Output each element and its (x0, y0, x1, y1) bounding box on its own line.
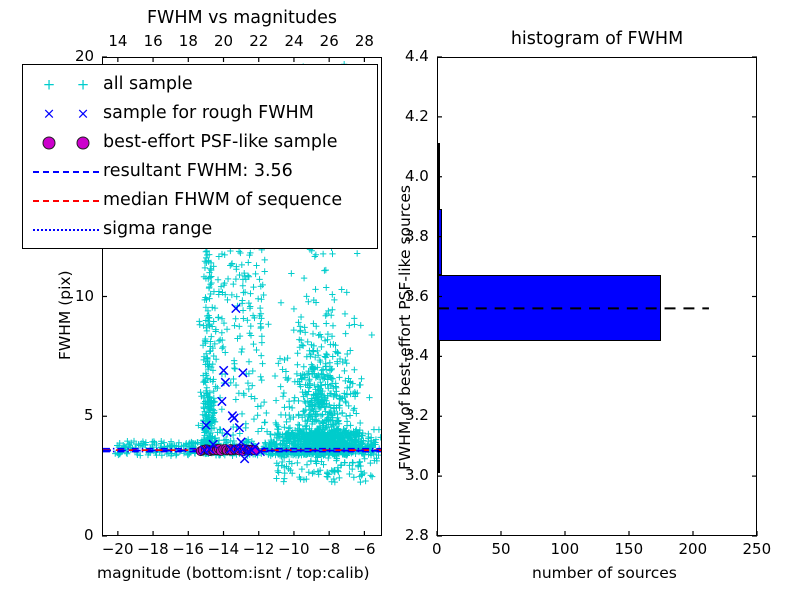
legend-item-label: sample for rough FWHM (103, 105, 314, 123)
histogram-bar (438, 209, 442, 275)
y-tick-label: 3.0 (405, 468, 429, 483)
fwhm-histogram-axes (437, 57, 757, 536)
legend-item[interactable]: resultant FWHM: 3.56 (29, 157, 293, 187)
x-bottom-tick-label: −14 (208, 542, 240, 557)
left-panel-title: FWHM vs magnitudes (102, 10, 382, 28)
legend-item-label: all sample (103, 76, 193, 94)
x-bottom-tick-label: −10 (278, 542, 310, 557)
right-panel-title: histogram of FWHM (437, 31, 757, 49)
plus-marker-icon: ++ (29, 70, 103, 100)
x-bottom-tick-label: −8 (318, 542, 340, 557)
x-top-tick-label: 24 (284, 34, 303, 49)
cross-marker-icon: ×× (29, 99, 103, 129)
x-bottom-tick-label: −6 (353, 542, 375, 557)
y-tick-label: 10 (75, 289, 94, 304)
legend-item[interactable]: best-effort PSF-like sample (29, 128, 338, 158)
legend-item-label: sigma range (103, 221, 212, 239)
line-sample (33, 200, 99, 202)
legend-item-label: best-effort PSF-like sample (103, 134, 338, 152)
x-tick-label: 100 (551, 542, 580, 557)
marker-glyph: × (43, 107, 56, 122)
left-xlabel: magnitude (bottom:isnt / top:calib) (97, 566, 370, 582)
x-top-tick-label: 20 (214, 34, 233, 49)
x-top-tick-label: 22 (249, 34, 268, 49)
figure-canvas: FWHM vs magnitudes −20−18−16−14−12−10−8−… (0, 0, 800, 600)
histogram-bar (438, 143, 440, 209)
x-top-tick-label: 28 (355, 34, 374, 49)
dashed-line-icon (29, 157, 103, 187)
y-tick-label: 20 (75, 49, 94, 64)
marker-glyph: + (43, 78, 56, 93)
marker-glyph (77, 137, 90, 150)
right-xlabel: number of sources (532, 566, 677, 582)
legend-item[interactable]: ++all sample (29, 70, 193, 100)
x-tick-label: 150 (615, 542, 644, 557)
histogram-bars (438, 58, 756, 535)
legend-item[interactable]: ××sample for rough FWHM (29, 99, 314, 129)
y-tick-label: 0 (84, 528, 94, 543)
legend-item[interactable]: median FHWM of sequence (29, 186, 342, 216)
marker-glyph (43, 137, 56, 150)
x-tick-label: 200 (679, 542, 708, 557)
x-top-tick-label: 16 (144, 34, 163, 49)
x-top-tick-label: 18 (179, 34, 198, 49)
dot-marker-icon (29, 128, 103, 158)
legend-item-label: resultant FWHM: 3.56 (103, 163, 293, 181)
x-top-tick-label: 14 (108, 34, 127, 49)
legend-item[interactable]: sigma range (29, 215, 212, 245)
histogram-bar (438, 275, 661, 341)
x-bottom-tick-label: −20 (102, 542, 134, 557)
left-ylabel: FWHM (pix) (58, 270, 74, 360)
right-ylabel: FWHM of best-effort PSF-like sources (398, 185, 414, 470)
marker-glyph: + (77, 78, 90, 93)
histogram-bar (438, 341, 440, 473)
x-tick-label: 0 (432, 542, 442, 557)
y-tick-label: 2.8 (405, 528, 429, 543)
y-tick-label: 5 (84, 408, 94, 423)
x-tick-label: 250 (743, 542, 772, 557)
x-bottom-tick-label: −12 (243, 542, 275, 557)
line-sample (33, 229, 99, 231)
x-bottom-tick-label: −16 (172, 542, 204, 557)
legend-item-label: median FHWM of sequence (103, 192, 342, 210)
y-tick-label: 4.2 (405, 109, 429, 124)
x-top-tick-label: 26 (320, 34, 339, 49)
plot-legend[interactable]: ++all sample××sample for rough FWHMbest-… (22, 64, 378, 249)
x-bottom-tick-label: −18 (137, 542, 169, 557)
y-tick-label: 4.0 (405, 169, 429, 184)
dashed-line-icon (29, 186, 103, 216)
marker-glyph: × (77, 107, 90, 122)
line-sample (33, 171, 99, 173)
y-tick-label: 4.4 (405, 49, 429, 64)
x-tick-label: 50 (492, 542, 511, 557)
dashdot-line-icon (29, 215, 103, 245)
